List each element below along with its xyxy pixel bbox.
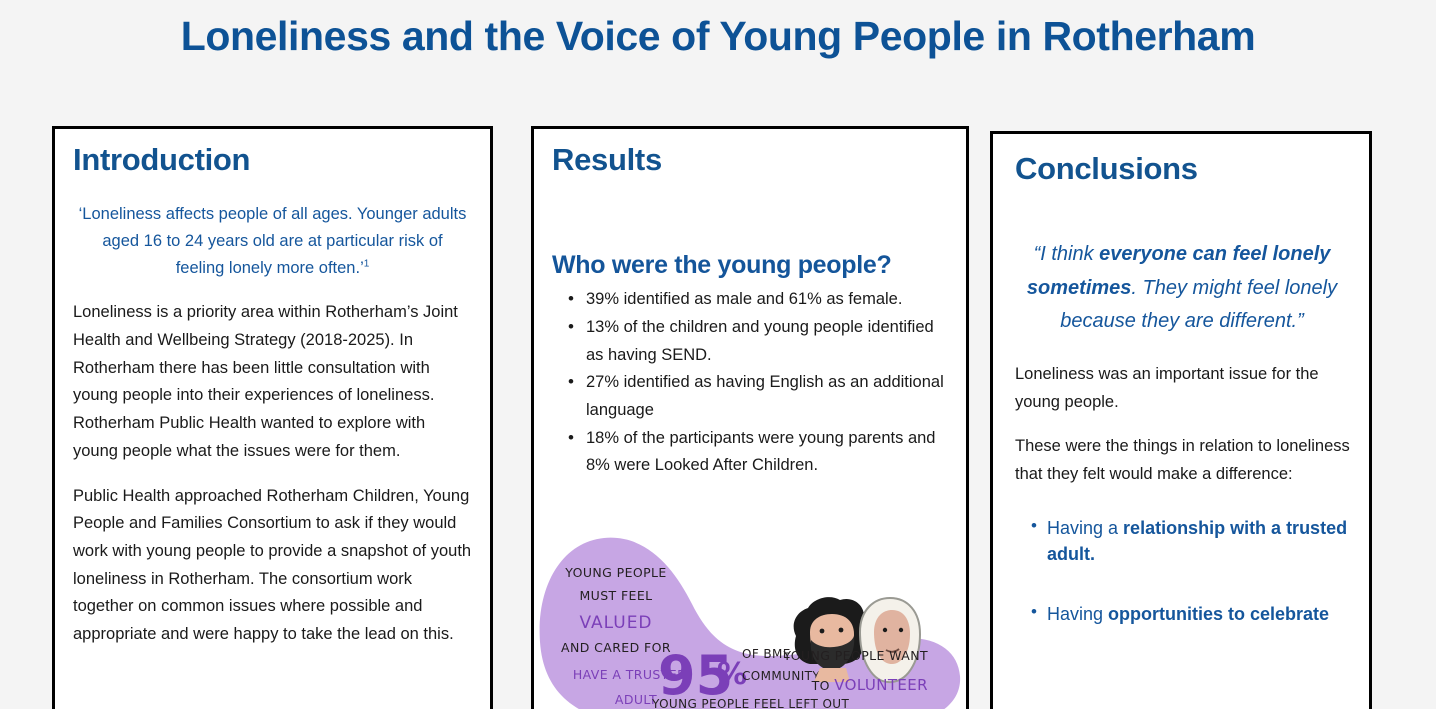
- introduction-paragraph-2: Public Health approached Rotherham Child…: [73, 483, 472, 649]
- list-item: 27% identified as having English as an a…: [574, 369, 948, 424]
- conclusions-bullet-list: Having a relationship with a trusted adu…: [1015, 515, 1351, 627]
- panel-results: Results Who were the young people? 39% i…: [531, 126, 969, 709]
- introduction-heading: Introduction: [73, 143, 472, 177]
- conclusions-quote: “I think everyone can feel lonely someti…: [1019, 238, 1345, 339]
- left-line-3: VALUED: [579, 613, 652, 633]
- bearded-person-eye-right-icon: [839, 628, 844, 633]
- conclusions-quote-part: “I think: [1034, 243, 1100, 265]
- list-item: 18% of the participants were young paren…: [574, 425, 948, 480]
- results-bullet-list: 39% identified as male and 61% as female…: [552, 286, 948, 480]
- left-line-4: AND CARED FOR: [561, 640, 671, 655]
- bullet-text-bold: opportunities to celebrate: [1108, 604, 1329, 624]
- bullet-text: Having: [1047, 604, 1108, 624]
- panel-conclusions: Conclusions “I think everyone can feel l…: [990, 131, 1372, 709]
- panel-conclusions-content: Conclusions “I think everyone can feel l…: [993, 134, 1369, 627]
- stat-label-3: YOUNG PEOPLE FEEL LEFT OUT: [651, 697, 849, 709]
- panel-results-content: Results Who were the young people? 39% i…: [534, 129, 966, 480]
- right-line-2-prefix: TO: [811, 678, 835, 693]
- conclusions-paragraph-1: Loneliness was an important issue for th…: [1015, 361, 1351, 416]
- headscarf-person-eye-right-icon: [899, 628, 903, 632]
- list-item: Having a relationship with a trusted adu…: [1033, 515, 1351, 567]
- panel-introduction: Introduction ‘Loneliness affects people …: [52, 126, 493, 709]
- headscarf-person-eye-left-icon: [883, 628, 887, 632]
- introduction-quote-citation: 1: [364, 258, 370, 269]
- results-subheading: Who were the young people?: [552, 251, 948, 280]
- introduction-quote-text: ‘Loneliness affects people of all ages. …: [79, 205, 467, 276]
- poster-canvas: Loneliness and the Voice of Young People…: [0, 0, 1436, 709]
- left-line-2: MUST FEEL: [579, 588, 652, 603]
- conclusions-heading: Conclusions: [1015, 152, 1351, 186]
- right-line-2: TO VOLUNTEER: [811, 676, 928, 694]
- right-line-2-accent: VOLUNTEER: [834, 676, 928, 694]
- list-item: 13% of the children and young people ide…: [574, 314, 948, 369]
- bearded-person-eye-left-icon: [820, 629, 825, 634]
- loneliness-infographic: YOUNG PEOPLE MUST FEEL VALUED AND CARED …: [534, 524, 966, 709]
- infographic-svg: YOUNG PEOPLE MUST FEEL VALUED AND CARED …: [534, 524, 966, 709]
- list-item: Having opportunities to celebrate: [1033, 601, 1351, 627]
- conclusions-paragraph-2: These were the things in relation to lon…: [1015, 433, 1351, 488]
- list-item: 39% identified as male and 61% as female…: [574, 286, 948, 314]
- introduction-paragraph-1: Loneliness is a priority area within Rot…: [73, 299, 472, 465]
- left-line-6: ADULT: [615, 692, 657, 707]
- introduction-quote: ‘Loneliness affects people of all ages. …: [77, 201, 468, 281]
- bullet-text: Having a: [1047, 518, 1123, 538]
- poster-title: Loneliness and the Voice of Young People…: [0, 12, 1436, 60]
- panel-introduction-content: Introduction ‘Loneliness affects people …: [55, 129, 490, 649]
- left-line-1: YOUNG PEOPLE: [564, 565, 666, 580]
- results-heading: Results: [552, 143, 948, 177]
- right-line-1: YOUNG PEOPLE WANT: [782, 648, 928, 663]
